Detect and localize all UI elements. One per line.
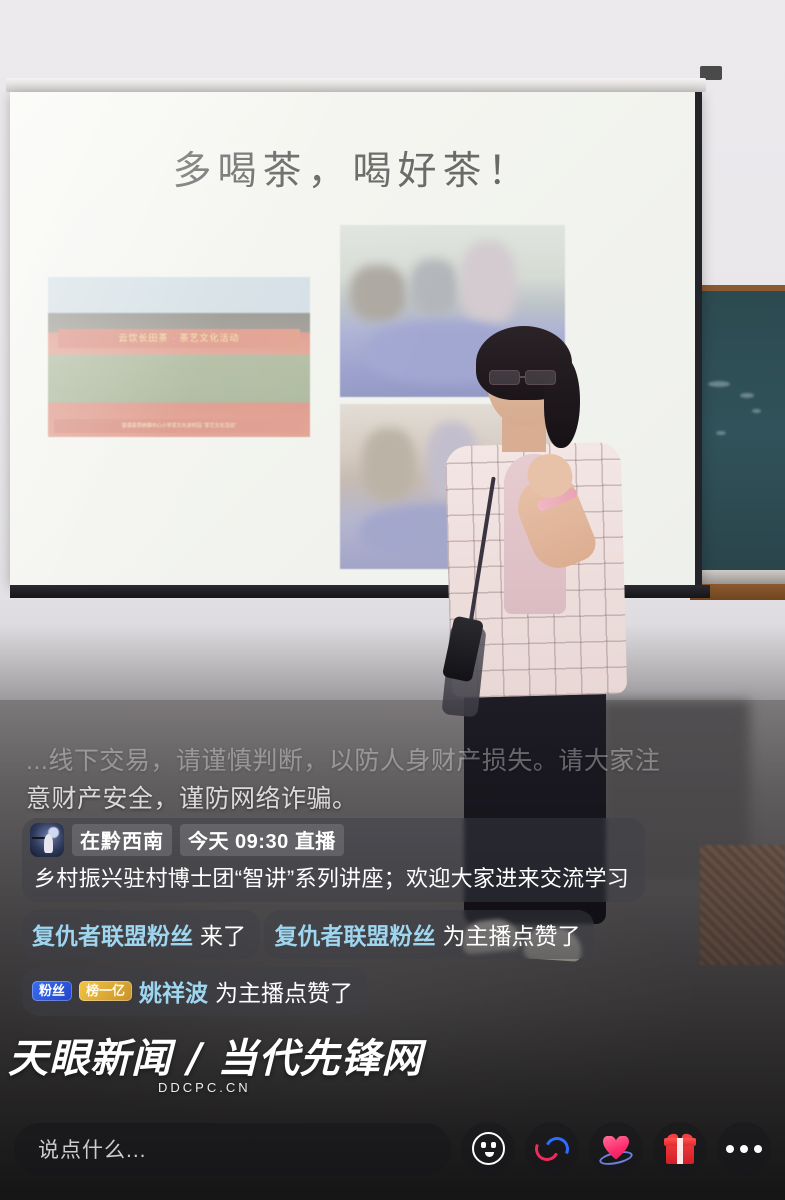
slide-photo-banner-primary: 云饮长田茶 · 茶艺文化活动 (58, 329, 300, 348)
chat-username[interactable]: 姚祥波 (139, 974, 208, 1008)
chat-message[interactable]: 复仇者联盟粉丝 来了 (22, 910, 260, 959)
system-announcement[interactable]: 在黔西南 今天 09:30 直播 乡村振兴驻村博士团“智讲”系列讲座；欢迎大家进… (22, 818, 645, 902)
comment-placeholder: 说点什么... (38, 1134, 147, 1164)
chalkboard-ledge (690, 570, 785, 584)
chat-text: 来了 (200, 917, 246, 951)
chalkboard (690, 285, 785, 575)
chat-text: 为主播点赞了 (215, 974, 353, 1008)
emoji-button[interactable] (461, 1122, 515, 1176)
projector-screen-housing (6, 78, 706, 92)
slide-title: 多喝茶，喝好茶！ (10, 140, 695, 196)
like-button[interactable] (589, 1122, 643, 1176)
comment-input[interactable]: 说点什么... (14, 1123, 451, 1175)
avatar[interactable] (30, 823, 64, 857)
chat-feed[interactable]: 在黔西南 今天 09:30 直播 乡村振兴驻村博士团“智讲”系列讲座；欢迎大家进… (22, 818, 762, 1024)
slide-photo-banner-secondary: 望谟县郊纳镇中心小学茶文化进校园 “茶艺文化活动” (54, 419, 304, 433)
smiley-icon (472, 1132, 505, 1165)
bottom-action-bar: 说点什么... (0, 1105, 785, 1200)
system-announcement-body: 乡村振兴驻村博士团“智讲”系列讲座；欢迎大家进来交流学习 (30, 862, 633, 895)
safety-notice-line-2: 意财产安全，谨防网络诈骗。 (26, 780, 726, 818)
more-button[interactable] (717, 1122, 771, 1176)
safety-notice: ...线下交易，请谨慎判断，以防人身财产损失。请大家注 意财产安全，谨防网络诈骗… (26, 742, 726, 818)
slide-photo-left: 云饮长田茶 · 茶艺文化活动 望谟县郊纳镇中心小学茶文化进校园 “茶艺文化活动” (48, 277, 310, 437)
glasses-icon (489, 370, 563, 385)
safety-notice-line-1: ...线下交易，请谨慎判断，以防人身财产损失。请大家注 (26, 742, 726, 780)
slide-photo-banner-primary-text: 云饮长田茶 · 茶艺文化活动 (58, 329, 300, 348)
chat-username[interactable]: 复仇者联盟粉丝 (32, 917, 193, 951)
share-icon (535, 1132, 569, 1166)
chat-username[interactable]: 复仇者联盟粉丝 (274, 917, 435, 951)
chat-message[interactable]: 复仇者联盟粉丝 为主播点赞了 (264, 910, 594, 959)
chat-text: 为主播点赞了 (442, 917, 580, 951)
live-stream-screen: 多喝茶，喝好茶！ 云饮长田茶 · 茶艺文化活动 望谟县郊纳镇中心小学茶文化进校园… (0, 0, 785, 1200)
gift-icon (664, 1134, 696, 1164)
more-dots-icon (726, 1145, 762, 1153)
gift-button[interactable] (653, 1122, 707, 1176)
chat-message[interactable]: 粉丝 榜一亿 姚祥波 为主播点赞了 (22, 967, 367, 1016)
location-tag: 在黔西南 (72, 824, 172, 856)
heart-icon (599, 1134, 633, 1164)
share-button[interactable] (525, 1122, 579, 1176)
slide-photo-banner-secondary-text: 望谟县郊纳镇中心小学茶文化进校园 “茶艺文化活动” (54, 419, 304, 433)
live-time-tag: 今天 09:30 直播 (180, 824, 344, 856)
fan-badge: 粉丝 (32, 981, 72, 1001)
system-announcement-header: 在黔西南 今天 09:30 直播 (30, 823, 633, 857)
rank-badge: 榜一亿 (79, 981, 132, 1001)
